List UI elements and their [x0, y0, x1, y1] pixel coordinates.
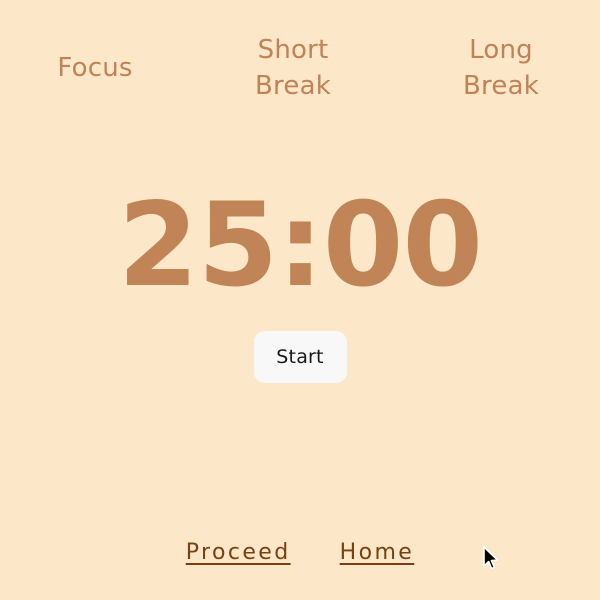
- tab-focus[interactable]: Focus: [35, 50, 155, 86]
- mode-tabs: Focus Short Break Long Break: [0, 0, 600, 120]
- start-button[interactable]: Start: [254, 331, 347, 383]
- proceed-link[interactable]: Proceed: [186, 540, 291, 565]
- tab-focus-label: Focus: [35, 50, 155, 86]
- tab-short-break[interactable]: Short Break: [233, 32, 353, 104]
- timer-controls: Start: [0, 331, 600, 383]
- tab-short-break-label-line1: Short: [233, 32, 353, 68]
- tab-short-break-label-line2: Break: [233, 68, 353, 104]
- tab-long-break-label-line2: Break: [441, 68, 561, 104]
- footer-links: Proceed Home: [0, 540, 600, 565]
- tab-long-break[interactable]: Long Break: [441, 32, 561, 104]
- pomodoro-app: Focus Short Break Long Break 25:00 Start…: [0, 0, 600, 600]
- home-link[interactable]: Home: [340, 540, 415, 565]
- timer-display: 25:00: [0, 186, 600, 306]
- tab-long-break-label-line1: Long: [441, 32, 561, 68]
